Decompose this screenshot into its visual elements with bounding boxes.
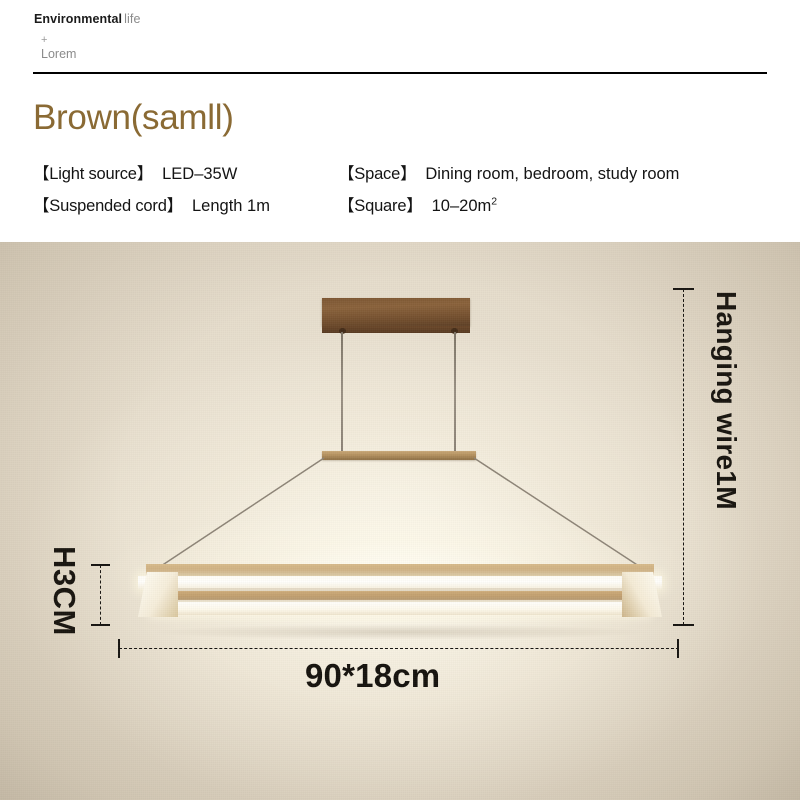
brand-subtitle: Lorem: [41, 48, 76, 61]
specification-list: 【Light source】 LED–35W 【Space】 Dining ro…: [33, 160, 773, 224]
spec-row: 【Light source】 LED–35W 【Space】 Dining ro…: [33, 160, 773, 192]
spec-label: 【Square】: [338, 192, 423, 216]
spec-label: 【Light source】: [33, 160, 153, 184]
spec-row: 【Suspended cord】 Length 1m 【Square】 10–2…: [33, 192, 773, 224]
spec-space: 【Space】 Dining room, bedroom, study room: [338, 160, 679, 184]
spec-value-text: 10–20m: [432, 197, 492, 215]
height-cap-top: [91, 564, 110, 566]
height-label: H3CM: [46, 546, 82, 636]
page-title: Brown(samll): [33, 98, 234, 138]
product-photo: Hanging wire1M H3CM 90*18cm: [0, 242, 800, 800]
suspension-crossbar: [322, 451, 476, 460]
pendant-lamp-body: [138, 564, 662, 626]
lamp-led-strip-bottom: [150, 602, 650, 615]
drop-wire-right: [454, 332, 456, 456]
ceiling-mount-plate: [322, 298, 470, 326]
width-dimension-line: [119, 648, 679, 649]
product-detail-page: Environmentallife + Lorem Brown(samll) 【…: [0, 0, 800, 800]
spec-square: 【Square】 10–20m2: [338, 192, 497, 216]
hanging-wire-cap-top: [673, 288, 694, 290]
width-label: 90*18cm: [305, 657, 440, 695]
brand-name-secondary: life: [124, 12, 140, 26]
hanging-wire-cap-bottom: [673, 624, 694, 626]
brand-name: Environmentallife: [34, 12, 141, 26]
spec-label: 【Space】: [338, 160, 416, 184]
hanging-wire-dimension-line: [683, 289, 684, 625]
spec-light-source: 【Light source】 LED–35W: [33, 160, 338, 184]
plus-icon: +: [41, 35, 47, 46]
header-divider: [33, 72, 767, 74]
spec-suspended-cord: 【Suspended cord】 Length 1m: [33, 192, 338, 216]
width-cap-right: [677, 639, 679, 658]
hanging-wire-label: Hanging wire1M: [710, 291, 742, 510]
spec-value: Length 1m: [192, 197, 270, 216]
height-dimension-line: [100, 565, 101, 625]
width-cap-left: [118, 639, 120, 658]
lamp-inner-rail: [176, 591, 624, 600]
height-cap-bottom: [91, 624, 110, 626]
spec-value: 10–20m2: [432, 197, 497, 216]
spec-value: LED–35W: [162, 165, 237, 184]
spec-label: 【Suspended cord】: [33, 192, 183, 216]
brand-name-primary: Environmental: [34, 12, 122, 26]
lamp-drop-shadow: [150, 624, 650, 640]
product-info-panel: Environmentallife + Lorem Brown(samll) 【…: [0, 0, 800, 242]
spec-value: Dining room, bedroom, study room: [425, 165, 679, 184]
spec-value-superscript: 2: [491, 196, 497, 208]
drop-wire-left: [341, 332, 343, 456]
